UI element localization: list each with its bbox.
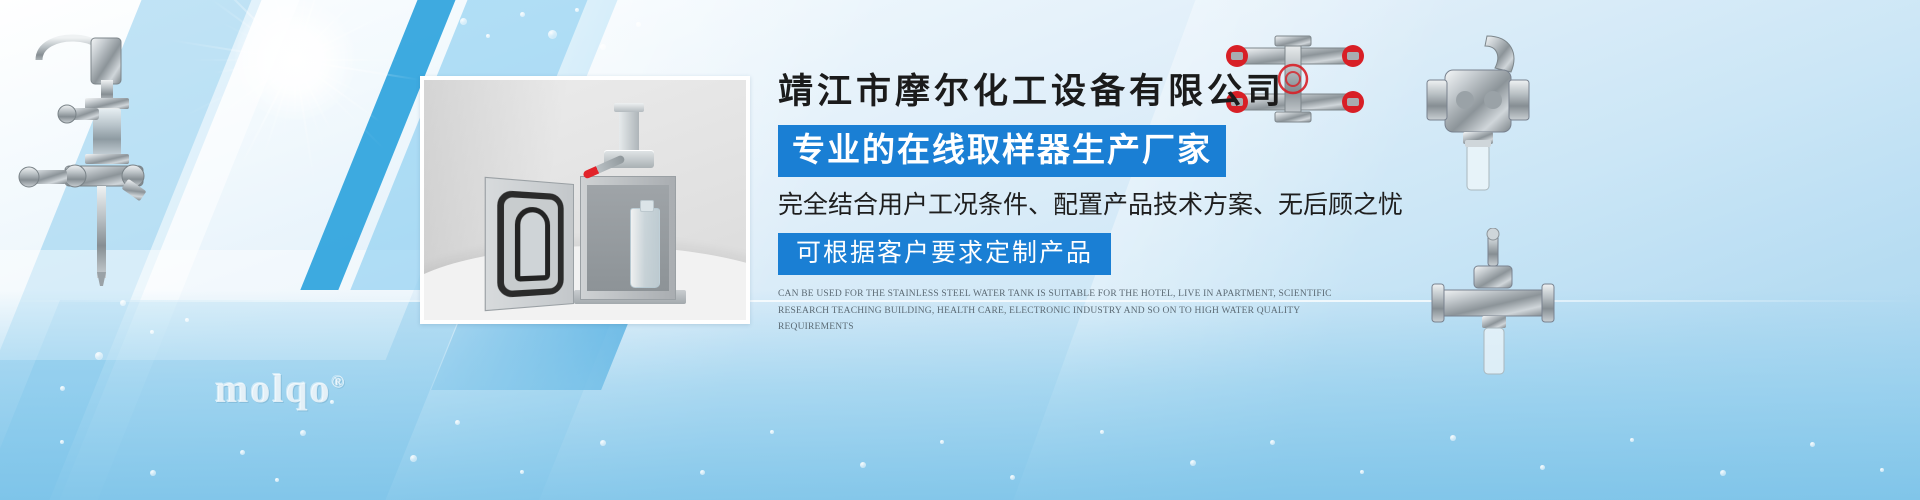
- subline: 完全结合用户工况条件、配置产品技术方案、无后顾之忧: [778, 189, 1418, 222]
- company-title: 靖江市摩尔化工设备有限公司: [778, 70, 1418, 114]
- headline-highlight: 专业的在线取样器生产厂家: [778, 125, 1226, 177]
- product-photo-online-sampler: [420, 76, 750, 324]
- flanged-sampling-valve-illustration: [1415, 28, 1545, 203]
- sampling-valve-assembly-illustration: [5, 20, 185, 290]
- banner-text-block: 靖江市摩尔化工设备有限公司 专业的在线取样器生产厂家 完全结合用户工况条件、配置…: [778, 70, 1418, 336]
- watermark-text: molqo: [215, 366, 332, 411]
- watermark-logo: molqo®: [215, 365, 346, 412]
- promotional-banner: 靖江市摩尔化工设备有限公司 专业的在线取样器生产厂家 完全结合用户工况条件、配置…: [0, 0, 1920, 500]
- sunburst-icon: [175, 0, 415, 180]
- registered-mark-icon: ®: [332, 373, 347, 392]
- tagline-highlight: 可根据客户要求定制产品: [778, 233, 1111, 275]
- inline-sampler-valve-illustration: [1430, 228, 1560, 388]
- english-description: CAN BE USED FOR THE STAINLESS STEEL WATE…: [778, 286, 1378, 336]
